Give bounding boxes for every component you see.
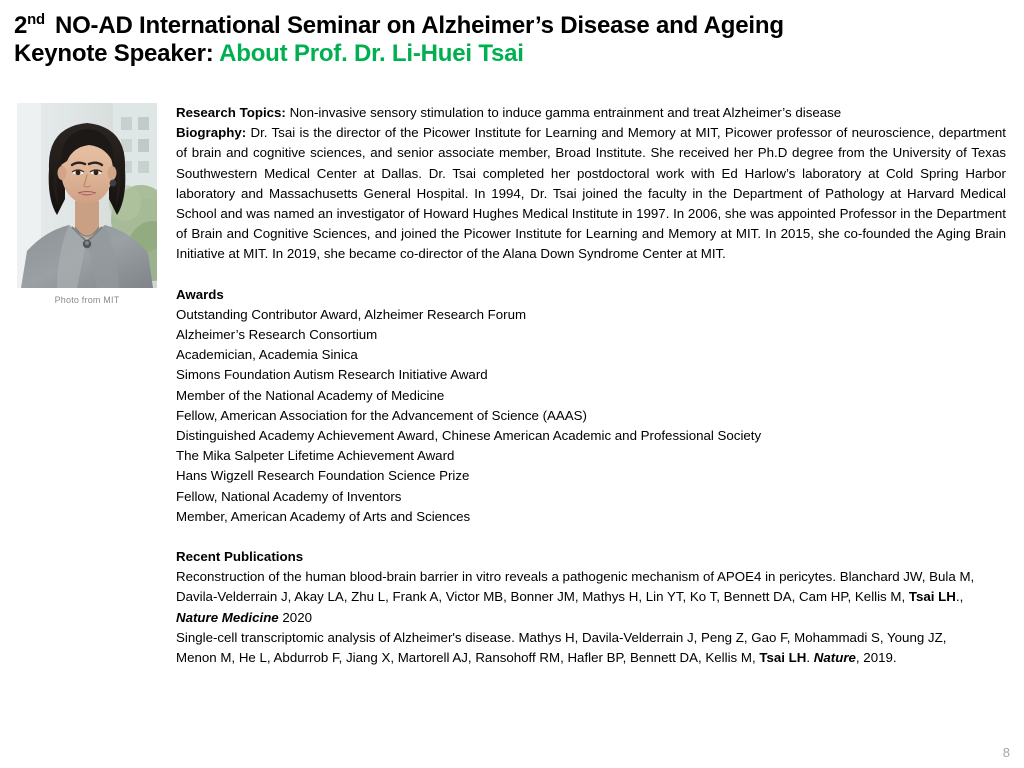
speaker-portrait-photo <box>17 103 157 288</box>
research-topics-label: Research Topics: <box>176 105 286 120</box>
publication-citation-mid: . <box>806 650 813 665</box>
award-item: Distinguished Academy Achievement Award,… <box>176 426 1006 446</box>
publications-heading: Recent Publications <box>176 547 976 567</box>
award-item: The Mika Salpeter Lifetime Achievement A… <box>176 446 1006 466</box>
keynote-speaker-label: Keynote Speaker: <box>14 40 214 67</box>
publication-author-highlight: Tsai LH <box>909 589 956 604</box>
research-topics-text: Non-invasive sensory stimulation to indu… <box>286 105 841 120</box>
recent-publications-section: Recent Publications Reconstruction of th… <box>176 547 976 668</box>
award-item: Simons Foundation Autism Research Initia… <box>176 365 1006 385</box>
award-item: Fellow, National Academy of Inventors <box>176 487 1006 507</box>
portrait-illustration <box>17 103 157 288</box>
publication-citation-lead: Reconstruction of the human blood-brain … <box>176 569 974 604</box>
biography-label: Biography: <box>176 125 246 140</box>
slide-title-line-2: Keynote Speaker: About Prof. Dr. Li-Huei… <box>14 40 1010 68</box>
award-item: Member of the National Academy of Medici… <box>176 386 1006 406</box>
seminar-name: NO-AD International Seminar on Alzheimer… <box>55 12 784 39</box>
biography-paragraph: Biography: Dr. Tsai is the director of t… <box>176 123 1006 264</box>
publication-journal-name: Nature <box>814 650 856 665</box>
speaker-photo-wrap: Photo from MIT <box>17 103 157 305</box>
biography-text: Dr. Tsai is the director of the Picower … <box>176 125 1006 261</box>
publication-entry: Single-cell transcriptomic analysis of A… <box>176 628 976 668</box>
awards-heading: Awards <box>176 285 1006 305</box>
award-item: Fellow, American Association for the Adv… <box>176 406 1006 426</box>
research-topics-paragraph: Research Topics: Non-invasive sensory st… <box>176 103 1006 123</box>
slide-title-block: 2ndNO-AD International Seminar on Alzhei… <box>14 12 1010 68</box>
keynote-speaker-name: About Prof. Dr. Li-Huei Tsai <box>219 40 524 67</box>
slide-page-number: 8 <box>1003 745 1010 760</box>
slide-title-line-1: 2ndNO-AD International Seminar on Alzhei… <box>14 12 1010 40</box>
awards-section: Awards Outstanding Contributor Award, Al… <box>176 285 1006 527</box>
seminar-ordinal-number: 2 <box>14 12 27 39</box>
publication-citation-tail: , 2019. <box>856 650 897 665</box>
award-item: Alzheimer’s Research Consortium <box>176 325 1006 345</box>
award-item: Member, American Academy of Arts and Sci… <box>176 507 1006 527</box>
award-item: Academician, Academia Sinica <box>176 345 1006 365</box>
publication-entry: Reconstruction of the human blood-brain … <box>176 567 976 628</box>
seminar-ordinal-suffix: nd <box>27 12 45 28</box>
speaker-details-content: Research Topics: Non-invasive sensory st… <box>176 103 1006 668</box>
award-item: Hans Wigzell Research Foundation Science… <box>176 466 1006 486</box>
photo-credit-caption: Photo from MIT <box>17 295 157 305</box>
publication-citation-mid: ., <box>956 589 963 604</box>
award-item: Outstanding Contributor Award, Alzheimer… <box>176 305 1006 325</box>
publication-citation-tail: 2020 <box>279 610 312 625</box>
publication-author-highlight: Tsai LH <box>759 650 806 665</box>
publication-journal-name: Nature Medicine <box>176 610 279 625</box>
